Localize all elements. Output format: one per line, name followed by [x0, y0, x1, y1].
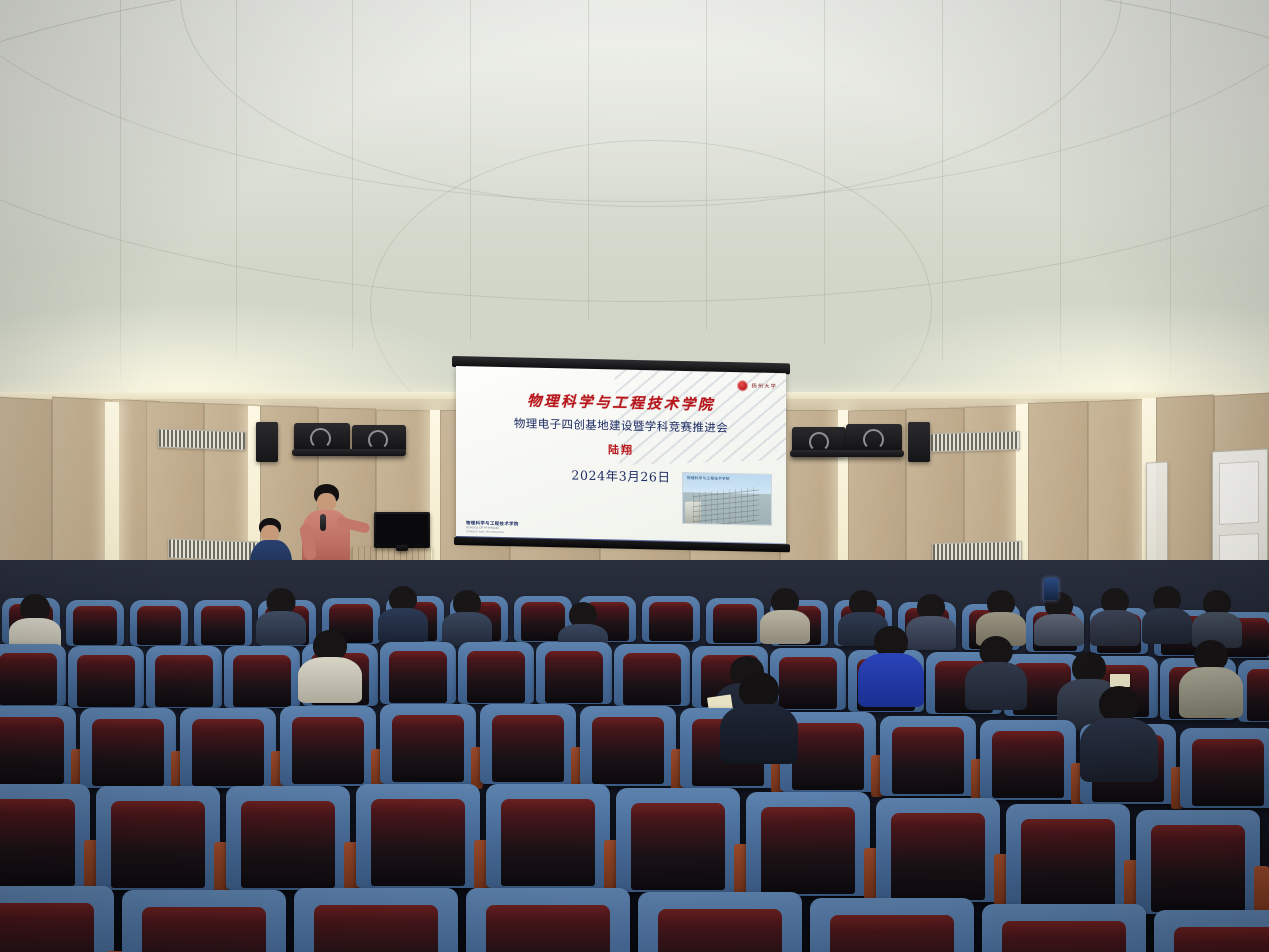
audience-member: [300, 630, 360, 702]
seat[interactable]: [130, 600, 188, 646]
audience-member: [762, 588, 808, 642]
slide-building-photo: 物理科学与工程技术学院: [682, 472, 772, 526]
wall-speaker: [846, 424, 902, 452]
seat[interactable]: [380, 642, 456, 704]
seat[interactable]: [146, 646, 222, 708]
speaker-shelf: [292, 449, 406, 456]
audience-member: [258, 588, 304, 642]
slide-footer: 物理科学与工程技术学院 SCHOOL OF PHYSICAL SCIENCE A…: [466, 520, 519, 534]
seat[interactable]: [224, 646, 300, 708]
seat[interactable]: [194, 600, 252, 646]
seat[interactable]: [810, 898, 974, 952]
seat[interactable]: [0, 644, 66, 706]
audience-member: [966, 636, 1026, 710]
audience-member: [1180, 640, 1242, 718]
monitor-stand: [396, 545, 408, 551]
seat[interactable]: [96, 786, 220, 890]
seat[interactable]: [638, 892, 802, 952]
seat[interactable]: [1154, 910, 1269, 952]
speaker-shelf: [790, 450, 904, 457]
audience-member: [380, 586, 426, 640]
seat[interactable]: [480, 704, 576, 784]
audience-member: [444, 590, 490, 644]
torso: [1080, 718, 1158, 782]
seat[interactable]: [0, 784, 90, 888]
seat[interactable]: [982, 904, 1146, 952]
audience-member: [1092, 588, 1138, 644]
torso: [1179, 667, 1243, 718]
seat[interactable]: [1180, 728, 1269, 808]
microphone[interactable]: [320, 514, 326, 531]
seat[interactable]: [226, 786, 350, 890]
air-vent: [158, 428, 246, 450]
torso: [442, 612, 492, 646]
wall-speaker: [294, 423, 350, 451]
seat[interactable]: [616, 788, 740, 892]
torso: [965, 662, 1027, 710]
seat[interactable]: [876, 798, 1000, 902]
projection-screen: 扬州大学 物理科学与工程技术学院 物理电子四创基地建设暨学科竞赛推进会 陆翔 2…: [452, 356, 790, 546]
seat[interactable]: [0, 886, 114, 952]
photo-caption: 物理科学与工程技术学院: [687, 476, 730, 482]
torso: [1142, 608, 1192, 644]
audience-member: [1194, 590, 1240, 646]
audience-member: [1082, 686, 1156, 782]
head: [739, 672, 779, 708]
seat[interactable]: [380, 704, 476, 784]
head: [1099, 686, 1139, 722]
presenter-monitor[interactable]: [374, 512, 430, 548]
seat[interactable]: [280, 706, 376, 786]
audience-member: [722, 672, 796, 764]
university-logo-text: 扬州大学: [751, 382, 777, 390]
seat[interactable]: [294, 888, 458, 952]
seat[interactable]: [466, 888, 630, 952]
torso: [720, 704, 798, 764]
monitor-screen: [376, 514, 428, 544]
torso: [378, 608, 428, 642]
audience-member: [1144, 586, 1190, 642]
audience-member: [860, 626, 922, 706]
building-main: [693, 487, 759, 526]
university-logo: 扬州大学: [737, 379, 777, 392]
door-panel: [1219, 461, 1259, 525]
wall-speaker: [256, 422, 278, 462]
audience-member-with-phone: [1036, 578, 1082, 640]
torso: [760, 610, 810, 644]
seat[interactable]: [0, 706, 76, 786]
torso: [298, 657, 362, 703]
seat[interactable]: [1136, 810, 1260, 914]
torso: [1034, 614, 1084, 646]
seat[interactable]: [458, 642, 534, 704]
seat[interactable]: [80, 708, 176, 788]
slide-surface: 扬州大学 物理科学与工程技术学院 物理电子四创基地建设暨学科竞赛推进会 陆翔 2…: [456, 366, 786, 548]
seat[interactable]: [642, 596, 700, 642]
university-seal-icon: [737, 380, 748, 391]
seat[interactable]: [122, 890, 286, 952]
audience-seating: [0, 560, 1269, 952]
seat[interactable]: [880, 716, 976, 796]
seat[interactable]: [1006, 804, 1130, 908]
auditorium-photo: 扬州大学 物理科学与工程技术学院 物理电子四创基地建设暨学科竞赛推进会 陆翔 2…: [0, 0, 1269, 952]
seat[interactable]: [614, 644, 690, 706]
seat[interactable]: [580, 706, 676, 786]
torso: [1090, 610, 1140, 646]
smartphone[interactable]: [1044, 578, 1058, 600]
wall-speaker: [908, 422, 930, 462]
seat[interactable]: [66, 600, 124, 646]
seat[interactable]: [746, 792, 870, 896]
torso: [256, 611, 306, 645]
seat[interactable]: [706, 598, 764, 644]
air-vent: [168, 538, 258, 561]
torso: [858, 653, 924, 707]
footer-college-en2: SCIENCE AND TECHNOLOGY: [466, 530, 519, 535]
seat[interactable]: [536, 642, 612, 704]
seat[interactable]: [180, 708, 276, 788]
wall-speaker: [352, 425, 406, 452]
seat[interactable]: [356, 784, 480, 888]
audience-member: [10, 594, 60, 650]
seat[interactable]: [980, 720, 1076, 800]
seat[interactable]: [68, 646, 144, 708]
seat[interactable]: [486, 784, 610, 888]
air-vent: [930, 431, 1020, 453]
